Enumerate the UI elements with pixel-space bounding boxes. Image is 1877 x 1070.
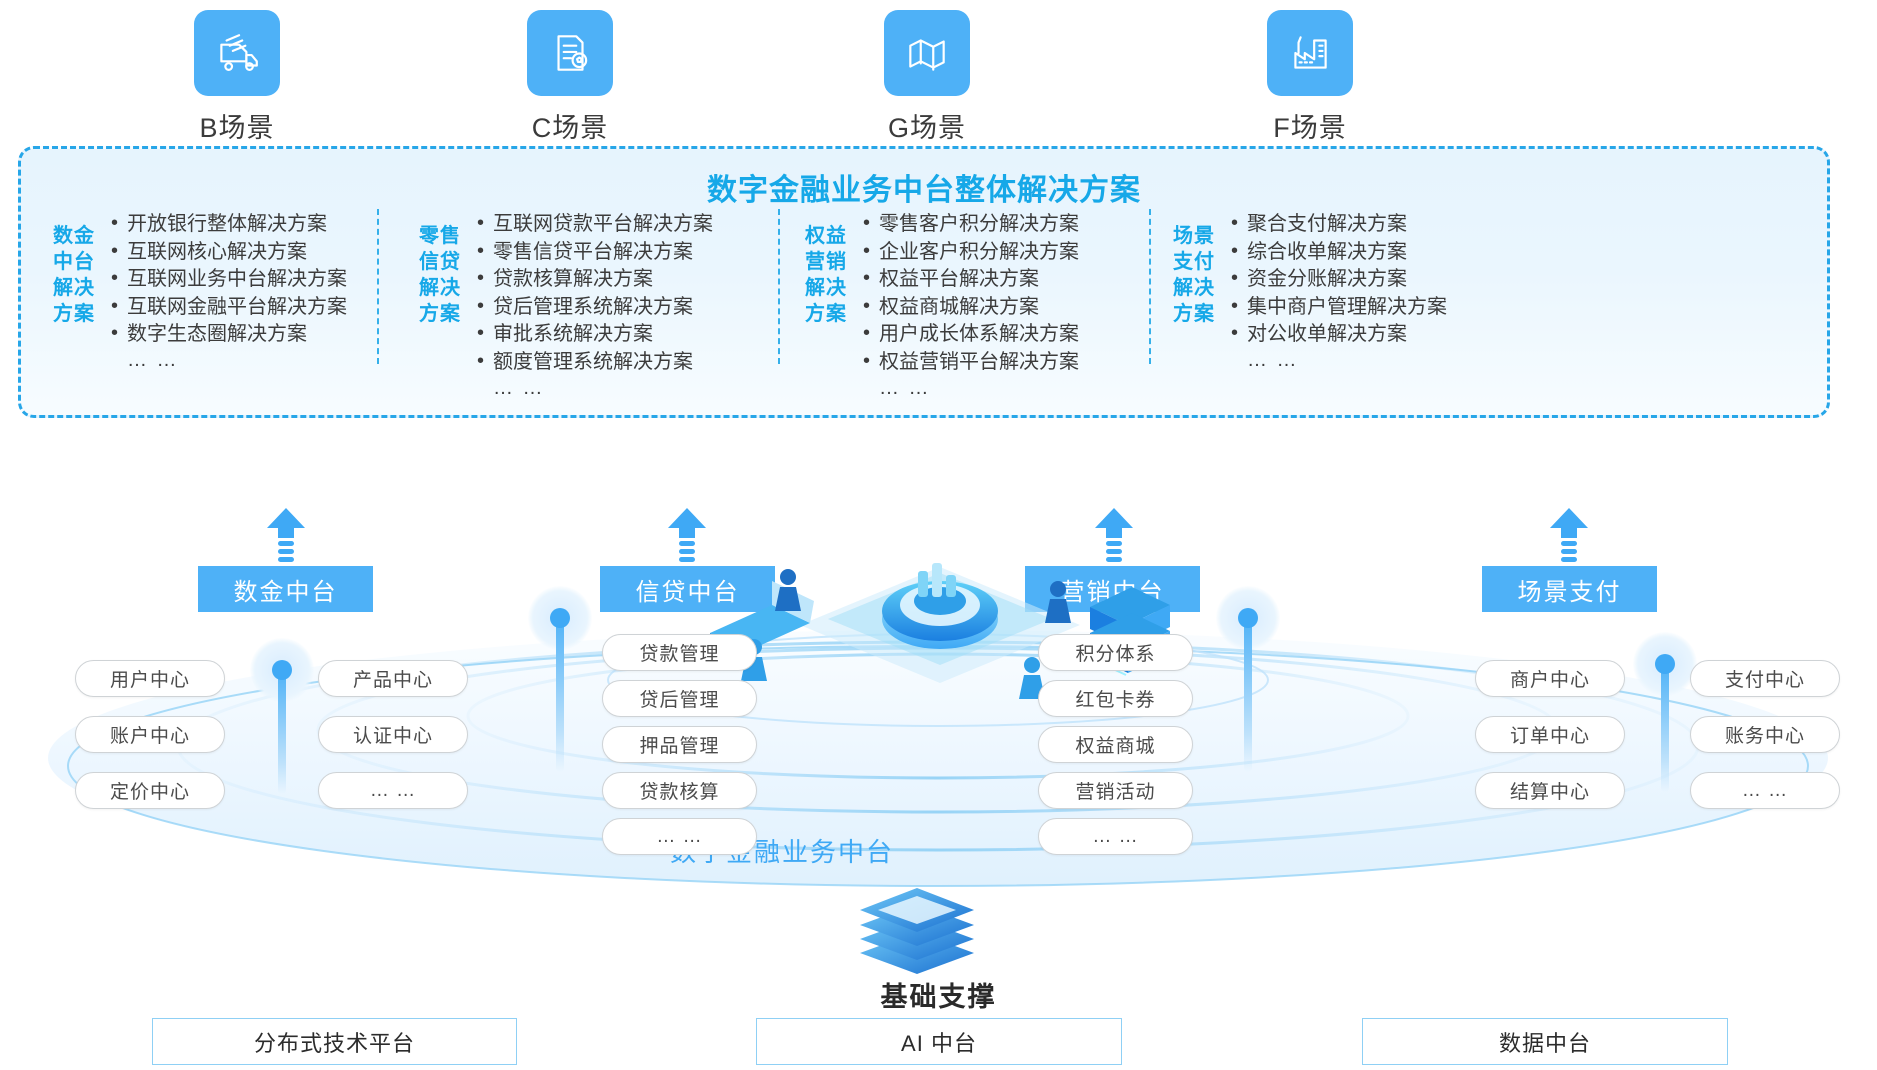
- layer-stack-icon: [852, 880, 982, 975]
- pin-stem: [556, 622, 564, 772]
- list-item: 权益营销平台解决方案: [863, 349, 1079, 377]
- pill-collateral-management[interactable]: 押品管理: [602, 726, 757, 763]
- pill-post-loan-management[interactable]: 贷后管理: [602, 680, 757, 717]
- label-line: 营销: [803, 249, 849, 275]
- label-line: 场景: [1171, 223, 1217, 249]
- pin-stem: [278, 674, 286, 794]
- pill-settlement-center[interactable]: 结算中心: [1475, 772, 1625, 809]
- pill-coupon-voucher[interactable]: 红包卡券: [1038, 680, 1193, 717]
- pill-merchant-center[interactable]: 商户中心: [1475, 660, 1625, 697]
- pill-marketing-more[interactable]: … …: [1038, 818, 1193, 855]
- solution-column-payment: 场景 支付 解决 方案 聚合支付解决方案 综合收单解决方案 资金分账解决方案 集…: [1171, 211, 1447, 372]
- pill-user-center[interactable]: 用户中心: [75, 660, 225, 697]
- label-line: 解决: [417, 275, 463, 301]
- factory-icon: [1267, 10, 1353, 96]
- column-divider-2: [778, 209, 780, 364]
- solution-list-credit: 互联网贷款平台解决方案 零售信贷平台解决方案 贷款核算解决方案 贷后管理系统解决…: [477, 211, 713, 400]
- pill-points-system[interactable]: 积分体系: [1038, 634, 1193, 671]
- list-item: 权益商城解决方案: [863, 294, 1079, 322]
- label-line: 解决: [803, 275, 849, 301]
- label-line: 解决: [1171, 275, 1217, 301]
- list-item: 对公收单解决方案: [1231, 321, 1447, 349]
- up-arrow-marketing: [1093, 508, 1135, 566]
- column-label-shujin: 数金 中台 解决 方案: [51, 223, 97, 327]
- solution-list-payment: 聚合支付解决方案 综合收单解决方案 资金分账解决方案 集中商户管理解决方案 对公…: [1231, 211, 1447, 372]
- pin-dot: [1238, 608, 1258, 628]
- list-item: 开放银行整体解决方案: [111, 211, 347, 239]
- solution-list-shujin: 开放银行整体解决方案 互联网核心解决方案 互联网业务中台解决方案 互联网金融平台…: [111, 211, 347, 372]
- list-item: 数字生态圈解决方案: [111, 321, 347, 349]
- pill-rights-mall[interactable]: 权益商城: [1038, 726, 1193, 763]
- map-blueprint-icon: [884, 10, 970, 96]
- label-line: 支付: [1171, 249, 1217, 275]
- list-item: 审批系统解决方案: [477, 321, 713, 349]
- pill-product-center[interactable]: 产品中心: [318, 660, 468, 697]
- pin-stem: [1661, 668, 1669, 792]
- pill-accounting-center[interactable]: 账务中心: [1690, 716, 1840, 753]
- list-item: 零售信贷平台解决方案: [477, 239, 713, 267]
- pill-shujin-more[interactable]: … …: [318, 772, 468, 809]
- up-arrow-payment: [1548, 508, 1590, 566]
- list-item: 贷后管理系统解决方案: [477, 294, 713, 322]
- base-box-distributed-platform[interactable]: 分布式技术平台: [152, 1018, 517, 1065]
- label-line: 方案: [51, 301, 97, 327]
- list-item: 互联网金融平台解决方案: [111, 294, 347, 322]
- list-ellipsis: … …: [863, 377, 1079, 400]
- pill-order-center[interactable]: 订单中心: [1475, 716, 1625, 753]
- label-line: 方案: [1171, 301, 1217, 327]
- column-label-marketing: 权益 营销 解决 方案: [803, 223, 849, 327]
- list-item: 零售客户积分解决方案: [863, 211, 1079, 239]
- pill-account-center[interactable]: 账户中心: [75, 716, 225, 753]
- pill-payment-more[interactable]: … …: [1690, 772, 1840, 809]
- base-box-data-platform[interactable]: 数据中台: [1362, 1018, 1728, 1065]
- panel-title: 数字金融业务中台整体解决方案: [21, 165, 1827, 209]
- list-item: 互联网核心解决方案: [111, 239, 347, 267]
- list-item: 企业客户积分解决方案: [863, 239, 1079, 267]
- pin-dot: [1655, 654, 1675, 674]
- column-divider-3: [1149, 209, 1151, 364]
- label-line: 零售: [417, 223, 463, 249]
- list-item: 互联网业务中台解决方案: [111, 266, 347, 294]
- column-label-credit: 零售 信贷 解决 方案: [417, 223, 463, 327]
- document-verified-icon: [527, 10, 613, 96]
- pill-loan-management[interactable]: 贷款管理: [602, 634, 757, 671]
- pill-pricing-center[interactable]: 定价中心: [75, 772, 225, 809]
- list-item: 资金分账解决方案: [1231, 266, 1447, 294]
- pin-stem: [1244, 622, 1252, 772]
- solution-panel: 数字金融业务中台整体解决方案 数金 中台 解决 方案 开放银行整体解决方案 互联…: [18, 146, 1830, 418]
- column-divider-1: [377, 209, 379, 364]
- pill-auth-center[interactable]: 认证中心: [318, 716, 468, 753]
- pill-credit-more[interactable]: … …: [602, 818, 757, 855]
- list-item: 集中商户管理解决方案: [1231, 294, 1447, 322]
- solution-column-marketing: 权益 营销 解决 方案 零售客户积分解决方案 企业客户积分解决方案 权益平台解决…: [803, 211, 1079, 400]
- up-arrow-shujin: [265, 508, 307, 566]
- list-item: 互联网贷款平台解决方案: [477, 211, 713, 239]
- solution-column-credit: 零售 信贷 解决 方案 互联网贷款平台解决方案 零售信贷平台解决方案 贷款核算解…: [417, 211, 713, 400]
- label-line: 信贷: [417, 249, 463, 275]
- label-line: 方案: [803, 301, 849, 327]
- list-item: 贷款核算解决方案: [477, 266, 713, 294]
- base-box-ai-platform[interactable]: AI 中台: [756, 1018, 1122, 1065]
- list-item: 用户成长体系解决方案: [863, 321, 1079, 349]
- scenario-b-title: B场景: [72, 106, 402, 145]
- base-support-label: 基础支撑: [0, 975, 1877, 1014]
- solution-column-shujin: 数金 中台 解决 方案 开放银行整体解决方案 互联网核心解决方案 互联网业务中台…: [51, 211, 347, 372]
- label-line: 解决: [51, 275, 97, 301]
- list-item: 综合收单解决方案: [1231, 239, 1447, 267]
- pill-marketing-campaign[interactable]: 营销活动: [1038, 772, 1193, 809]
- label-line: 方案: [417, 301, 463, 327]
- scenario-f-title: F场景: [1145, 106, 1475, 145]
- label-line: 数金: [51, 223, 97, 249]
- infographic-root: B场景 资金监管 I 企业财资 I …… C场景 消费类 I 新零售 I …… …: [0, 0, 1877, 1070]
- scenario-g-title: G场景: [762, 106, 1092, 145]
- pin-dot: [272, 660, 292, 680]
- label-line: 权益: [803, 223, 849, 249]
- list-ellipsis: … …: [1231, 349, 1447, 372]
- pin-dot: [550, 608, 570, 628]
- label-line: 中台: [51, 249, 97, 275]
- pill-payment-center[interactable]: 支付中心: [1690, 660, 1840, 697]
- scenario-c-title: C场景: [405, 106, 735, 145]
- list-ellipsis: … …: [111, 349, 347, 372]
- list-item: 权益平台解决方案: [863, 266, 1079, 294]
- truck-cargo-icon: [194, 10, 280, 96]
- up-arrow-credit: [666, 508, 708, 566]
- solution-list-marketing: 零售客户积分解决方案 企业客户积分解决方案 权益平台解决方案 权益商城解决方案 …: [863, 211, 1079, 400]
- column-label-payment: 场景 支付 解决 方案: [1171, 223, 1217, 327]
- list-item: 额度管理系统解决方案: [477, 349, 713, 377]
- list-ellipsis: … …: [477, 377, 713, 400]
- pill-loan-accounting[interactable]: 贷款核算: [602, 772, 757, 809]
- list-item: 聚合支付解决方案: [1231, 211, 1447, 239]
